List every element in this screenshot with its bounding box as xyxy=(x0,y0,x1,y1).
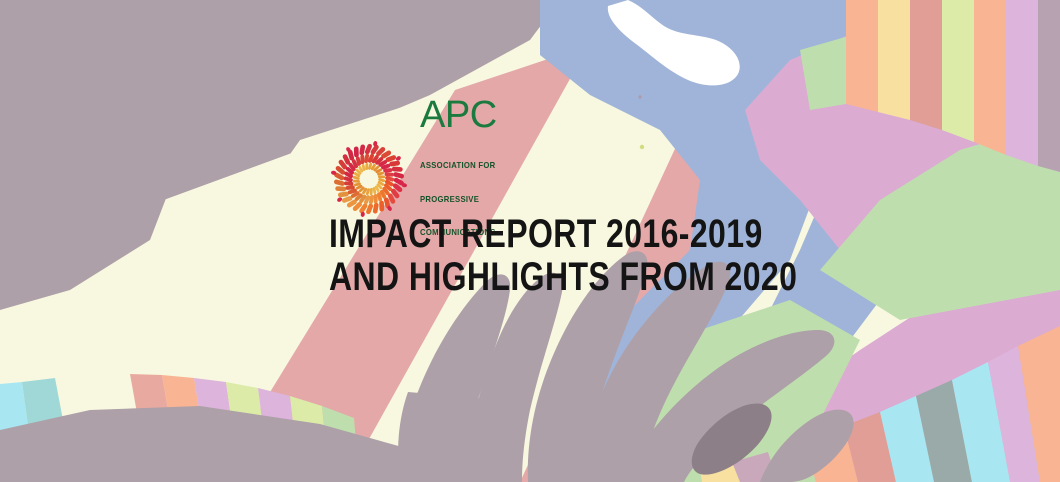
report-cover-banner: APC ASSOCIATION FOR PROGRESSIVE COMMUNIC… xyxy=(0,0,1060,482)
report-title-line-1: IMPACT REPORT 2016-2019 xyxy=(329,213,797,256)
report-title-line-2: AND HIGHLIGHTS FROM 2020 xyxy=(329,256,797,299)
apc-acronym: APC xyxy=(420,98,500,133)
sunburst-outer-ring xyxy=(333,142,406,215)
report-title: IMPACT REPORT 2016-2019 AND HIGHLIGHTS F… xyxy=(329,213,914,299)
apc-tagline-line-1: ASSOCIATION FOR xyxy=(420,160,496,171)
apc-sunburst-mark-icon xyxy=(330,140,408,218)
banner-content: APC ASSOCIATION FOR PROGRESSIVE COMMUNIC… xyxy=(0,0,1060,482)
apc-tagline-line-2: PROGRESSIVE xyxy=(420,194,496,205)
